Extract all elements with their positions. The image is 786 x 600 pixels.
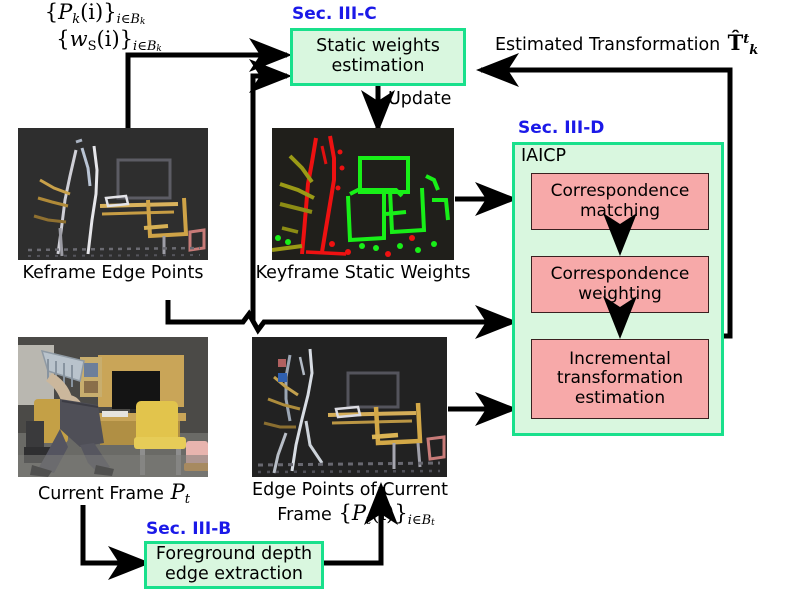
section-tag-iii-b: Sec. III-B <box>146 521 231 538</box>
math-subscript: t <box>185 492 190 507</box>
t-hat-subscript: k <box>749 43 758 58</box>
iaicp-internal-arrows <box>515 145 727 439</box>
math-symbol: P <box>58 0 72 24</box>
math-open-brace: { <box>339 501 352 525</box>
math-symbol: P <box>352 501 366 525</box>
image-keyframe-static-weights <box>272 128 454 260</box>
math-index-sub: t <box>431 518 435 528</box>
math-subscript: k <box>72 12 80 27</box>
caption-current-frame-text: Current Frame <box>38 484 164 504</box>
t-hat-symbol: T̂ <box>728 30 744 55</box>
caption-keyframe-edge-points: Keframe Edge Points <box>18 264 208 283</box>
math-close-brace: } <box>120 27 133 51</box>
math-open-brace: { <box>45 0 58 24</box>
math-index-in: ∈ <box>412 513 422 528</box>
label-estimated-transformation: Estimated Transformation T̂tk <box>495 30 758 58</box>
math-close-brace: } <box>103 0 116 24</box>
math-subscript: S <box>88 39 97 54</box>
estimated-transformation-math: T̂tk <box>720 30 758 55</box>
math-index-b: B <box>422 513 432 528</box>
math-symbol: w <box>70 27 88 51</box>
math-index-sub: k <box>156 44 161 54</box>
math-open-brace: { <box>56 27 69 51</box>
section-tag-iii-d: Sec. III-D <box>518 120 604 137</box>
math-index-b: B <box>130 12 140 27</box>
estimated-transformation-text: Estimated Transformation <box>495 35 720 55</box>
image-keyframe-edge-points <box>18 128 208 260</box>
static-weights-line-1: Static weights <box>316 37 440 57</box>
caption-edge-points-math: {Pt(i)}i∈Bt <box>332 501 435 525</box>
wire-keyframe-to-static-weights <box>128 55 287 128</box>
math-index-in: ∈ <box>137 39 147 54</box>
block-static-weights-estimation[interactable]: Static weights estimation <box>290 28 466 86</box>
image-edge-points-current-frame <box>252 337 447 477</box>
caption-current-frame: Current Frame Pt <box>8 481 220 507</box>
caption-edge-points-line-2: Frame <box>277 505 332 525</box>
math-index-sub: k <box>140 17 145 27</box>
block-foreground-depth-edge-extraction[interactable]: Foreground depth edge extraction <box>144 541 324 589</box>
math-index-in: ∈ <box>121 12 131 27</box>
foreground-line-2: edge extraction <box>156 565 312 585</box>
math-arg: (i) <box>97 27 120 51</box>
foreground-line-1: Foreground depth <box>156 545 312 565</box>
caption-keyframe-static-weights: Keyframe Static Weights <box>254 264 472 283</box>
math-arg: (i) <box>80 0 103 24</box>
math-index-b: B <box>147 39 157 54</box>
caption-current-frame-math: Pt <box>164 480 190 504</box>
static-weights-line-2: estimation <box>316 57 440 77</box>
caption-edge-points-current-frame: Edge Points of Current <box>240 481 460 500</box>
wire-keyframe-points-to-iaicp <box>168 300 513 330</box>
caption-keyframe-edge-points-math: {Pk(i)}i∈Bk <box>0 0 190 27</box>
caption-keyframe-edge-points-text: Keframe Edge Points <box>18 264 208 283</box>
diagram-canvas: Sec. III-C Static weights estimation Upd… <box>0 0 786 600</box>
caption-keyframe-static-weights-text: Keyframe Static Weights <box>254 264 472 283</box>
math-close-brace: } <box>394 501 407 525</box>
label-update: Update <box>388 89 451 109</box>
math-arg: (i) <box>371 501 394 525</box>
caption-keyframe-static-weights-math: {wS(i)}i∈Bk <box>0 27 218 54</box>
section-tag-iii-c: Sec. III-C <box>292 6 377 23</box>
image-current-frame <box>18 337 208 477</box>
caption-edge-points-line-1: Edge Points of Current <box>240 481 460 500</box>
math-symbol: P <box>171 480 185 504</box>
wire-currentframe-to-foreground <box>83 505 146 563</box>
block-iaicp-container: IAICP Correspondence matching Correspond… <box>512 142 724 436</box>
caption-edge-points-line-2-row: Frame {Pt(i)}i∈Bt <box>240 501 472 528</box>
